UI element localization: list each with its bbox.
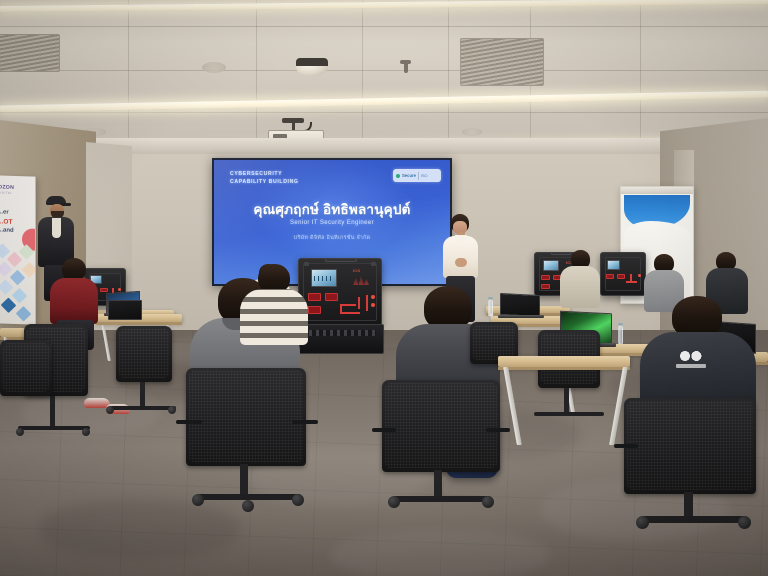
polo-logo-text (676, 364, 706, 368)
slide-logo-badge: Secure ISO (393, 169, 441, 182)
hvac-diffuser-right (460, 38, 544, 86)
chair-right (624, 398, 756, 494)
ceiling-led-strip-mid (0, 91, 768, 113)
slide-logo-dot-icon (396, 174, 400, 178)
banner-left-line-1: ...er (0, 209, 9, 215)
smoke-detector-head (400, 60, 411, 64)
rollup-banner-left: OZON DIGITAL ...er ...OT ...and (0, 175, 36, 324)
ceiling (0, 0, 768, 152)
hvac-diffuser-left (0, 34, 60, 72)
chair-base (534, 412, 604, 416)
kit-schematic-v3 (366, 295, 368, 311)
ics-training-kit-far-right (600, 252, 646, 296)
chair-caster (482, 496, 494, 508)
chair-post (50, 396, 55, 430)
banner-left-line-2: ...OT (0, 218, 12, 226)
chair-armrest (372, 428, 396, 432)
kit-latch-right (371, 262, 376, 266)
kit-case-bottom-center (296, 324, 384, 354)
slide-logo-text: Secure (402, 173, 416, 178)
slide-logo-mark: ISO (421, 173, 427, 178)
chair-mesh (385, 383, 497, 468)
chair-caster (106, 406, 114, 414)
kit-status-lamp-1 (638, 274, 641, 277)
water-bottle-2 (618, 326, 623, 344)
observer-inner-shirt (52, 218, 61, 238)
laptop-dark-screen-2 (108, 300, 142, 320)
chair-center (382, 380, 500, 472)
attendee-striped-shirt (240, 264, 308, 342)
kit-lcd-waveform (314, 276, 334, 281)
kit-schematic-v2 (358, 297, 360, 309)
chair-base (18, 426, 90, 430)
ics-training-kit-center: ICS (298, 258, 382, 326)
chair-far-left (0, 340, 52, 396)
banner-right-top-bar (621, 187, 693, 194)
chair-caster (636, 516, 649, 529)
ceiling-speaker-left (202, 62, 226, 73)
presenter-hands (455, 258, 467, 267)
chair-armrest (486, 428, 510, 432)
laptop-base (498, 315, 544, 318)
chair-caster (82, 428, 90, 436)
kit-schematic-h1 (340, 304, 356, 306)
ceiling-led-strip-top (0, 0, 768, 12)
slide-subtitle: Senior IT Security Engineer (214, 220, 450, 226)
attendee-shirt-maroon (50, 278, 98, 324)
bottle-cap (618, 323, 623, 325)
table-foreground-right (498, 356, 630, 367)
attendee-back-right (560, 250, 600, 308)
chair-caster (738, 516, 751, 529)
chair-caster (16, 428, 24, 436)
chair-armrest (292, 420, 318, 424)
kit-status-lamp-2 (371, 303, 375, 307)
slide-organization: บริษัท ดิจิทัล อินทิเกรชั่น จำกัด (214, 234, 450, 242)
chair-base (110, 406, 176, 410)
chair-mesh (473, 325, 515, 360)
chair-mesh (3, 343, 49, 392)
chair-armrest (176, 420, 202, 424)
attendee-shirt-light (560, 266, 600, 308)
presenter-collar (455, 235, 467, 243)
kit-schematic-h2 (340, 312, 360, 314)
kit-indicator-2 (617, 274, 625, 279)
kit-indicator-2 (325, 293, 338, 301)
ceiling-speaker-right (462, 128, 482, 136)
kit-indicator-1 (308, 293, 321, 301)
kit-status-lamp-1 (118, 288, 121, 291)
chair-mesh (119, 329, 169, 378)
slide-title: คุณศุภฤกษ์ อิทธิพลานุคุปต์ (214, 198, 450, 220)
kit-lcd-display (543, 260, 559, 271)
chair-armrest (614, 444, 638, 448)
attendee-shirt-striped-2 (240, 289, 308, 345)
chair-caster (192, 494, 204, 506)
wall-soffit (60, 138, 710, 154)
chair-caster (388, 496, 400, 508)
kit-indicator-1 (606, 274, 614, 279)
slide-logo-divider (418, 172, 419, 180)
chair-caster (242, 500, 254, 512)
banner-left-line-3: ...and (0, 227, 14, 234)
chair-mid-left (186, 368, 306, 466)
chair-caster (168, 406, 176, 414)
banner-left-logo-subtitle: DIGITAL (0, 190, 12, 194)
kit-indicator-3 (541, 284, 550, 289)
chair-base (640, 516, 748, 523)
laptop-dark-screen-1 (500, 293, 540, 317)
chair-mesh (189, 371, 303, 462)
chair-base (392, 496, 492, 502)
kit-brand-logo: ICS (353, 268, 360, 273)
chair-center-left-mid (116, 326, 172, 382)
slide-kicker-text: CYBERSECURITY CAPABILITY BUILDING (230, 171, 299, 187)
kit-case-vents (302, 330, 376, 336)
kit-handle (325, 258, 357, 262)
polo-chest-logo (676, 348, 706, 364)
training-room-photo: CYBERSECURITY CAPABILITY BUILDING Secure… (0, 0, 768, 576)
kit-indicator-1 (541, 275, 550, 280)
kit-schematic-v1 (630, 274, 632, 283)
kit-status-lamp-1 (371, 295, 375, 299)
kit-indicator-2 (100, 288, 108, 292)
kit-indicator-3 (308, 306, 321, 314)
chair-mesh (627, 401, 753, 490)
kit-lcd-display (607, 260, 620, 270)
chair-caster (292, 494, 304, 506)
